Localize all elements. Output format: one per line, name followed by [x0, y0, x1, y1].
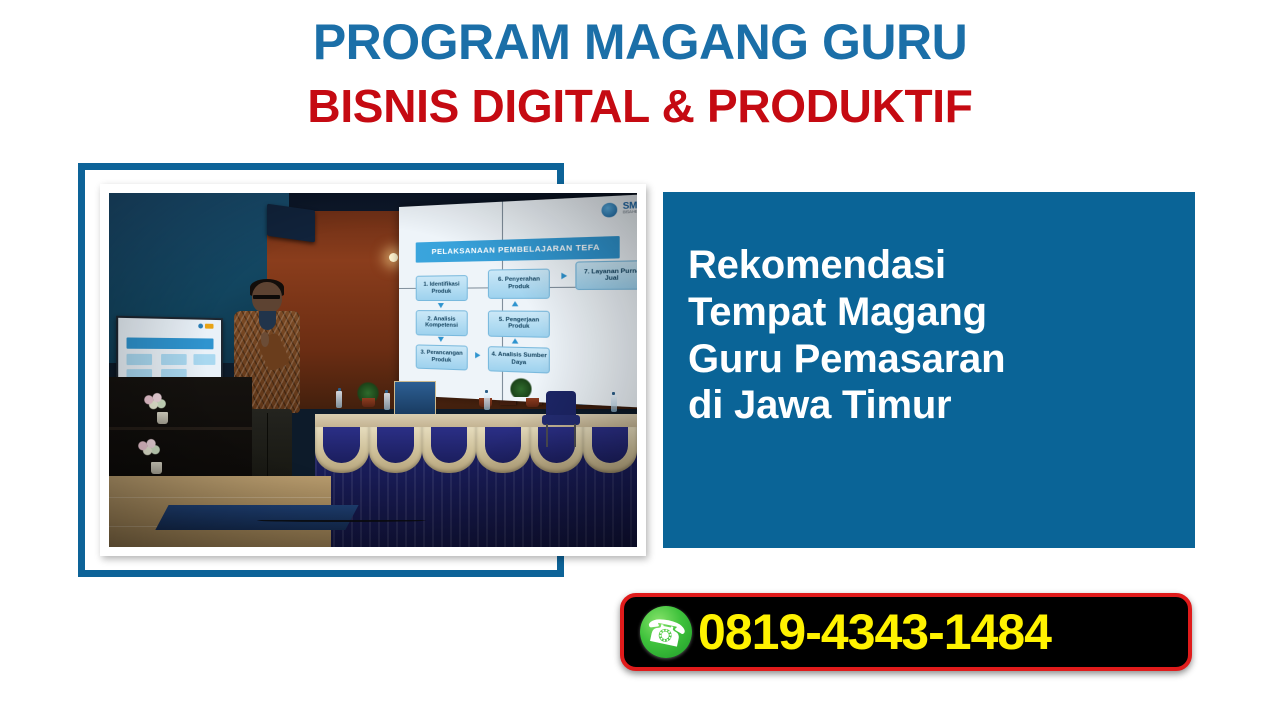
photo-card: SMK★ BISA HEBAT PELAKSANAAN PEMBELAJARAN…: [100, 184, 646, 556]
slide-box-7: 7. Layanan Purna Jual: [576, 260, 637, 290]
highlight-line-2: Tempat Magang: [688, 289, 1179, 336]
slide-title: PELAKSANAAN PEMBELAJARAN TEFA: [416, 236, 619, 263]
presenter-glasses: [253, 295, 280, 300]
highlight-line-3: Guru Pemasaran: [688, 336, 1179, 383]
table-swag: [583, 427, 637, 473]
monitor-box: [127, 354, 153, 364]
water-bottle: [336, 391, 342, 408]
potted-plant: [510, 377, 532, 397]
highlight-line-4: di Jawa Timur: [688, 382, 1179, 429]
floor-cable: [257, 519, 426, 522]
presenter-collar: [259, 311, 275, 330]
slide-arrow-down-icon: [438, 303, 444, 308]
dark-shelf: [109, 377, 252, 483]
chair: [542, 391, 580, 447]
water-bottle: [611, 395, 617, 412]
table-swag: [369, 427, 423, 473]
smk-bisa-logo: SMK★ BISA HEBAT: [623, 201, 637, 215]
slide-box-2: 2. Analisis Kompetensi: [416, 310, 468, 336]
contact-badge[interactable]: 0819-4343-1484: [620, 593, 1192, 671]
monitor-box: [193, 354, 215, 364]
slide-arrow-right-icon: [562, 272, 568, 279]
projector: [267, 204, 315, 243]
ceiling-light: [389, 253, 398, 262]
chair-leg: [574, 424, 576, 447]
monitor-logos: [198, 324, 213, 329]
slide-box-6: 6. Penyerahan Produk: [489, 268, 551, 299]
monitor-box: [161, 354, 187, 364]
floor-seam: [109, 497, 331, 498]
slide-arrow-up-icon: [512, 301, 519, 306]
highlight-panel: Rekomendasi Tempat Magang Guru Pemasaran…: [663, 192, 1195, 548]
flower-pot: [362, 398, 375, 407]
slide-box-3: 3. Perancangan Produk: [416, 345, 468, 372]
flower-arrangement: [141, 391, 167, 413]
page-subtitle: BISNIS DIGITAL & PRODUKTIF: [0, 81, 1280, 133]
slide-arrow-down-icon: [438, 337, 444, 342]
chair-leg: [546, 424, 548, 447]
stage-runner: [155, 505, 358, 530]
table-swag: [315, 427, 369, 473]
water-bottle: [384, 393, 390, 410]
flower-pot: [526, 398, 539, 407]
highlight-line-1: Rekomendasi: [688, 242, 1179, 289]
water-bottle: [484, 393, 490, 410]
flower-vase: [157, 412, 168, 424]
table-swag-row: [315, 427, 637, 473]
slide-arrow-right-icon: [476, 352, 481, 358]
monitor-slide-title: [127, 337, 214, 349]
kemdikbud-logo: [198, 324, 203, 329]
chair-back: [546, 391, 576, 417]
table-swag: [422, 427, 476, 473]
phone-number[interactable]: 0819-4343-1484: [698, 603, 1051, 661]
highlight-panel-text: Rekomendasi Tempat Magang Guru Pemasaran…: [688, 242, 1179, 429]
shelf-ledge: [109, 427, 252, 430]
headline-block: PROGRAM MAGANG GURU BISNIS DIGITAL & PRO…: [0, 16, 1280, 133]
slide-box-4: 4. Analisis Sumber Daya: [489, 346, 551, 374]
slide-logos: SMK★ BISA HEBAT: [601, 200, 637, 217]
slide-box-5: 5. Pengerjaan Produk: [489, 311, 551, 338]
seminar-photo: SMK★ BISA HEBAT PELAKSANAAN PEMBELAJARAN…: [109, 193, 637, 547]
flower-arrangement: [135, 437, 161, 459]
kemdikbud-logo: [601, 202, 617, 217]
slide-box-1: 1. Identifikasi Produk: [416, 276, 468, 301]
flower-vase: [151, 462, 162, 474]
page-title: PROGRAM MAGANG GURU: [0, 16, 1280, 69]
phone-icon: [640, 606, 692, 658]
slide-arrow-up-icon: [512, 339, 519, 344]
table-swag: [476, 427, 530, 473]
smk-bisa-logo: [205, 324, 214, 329]
